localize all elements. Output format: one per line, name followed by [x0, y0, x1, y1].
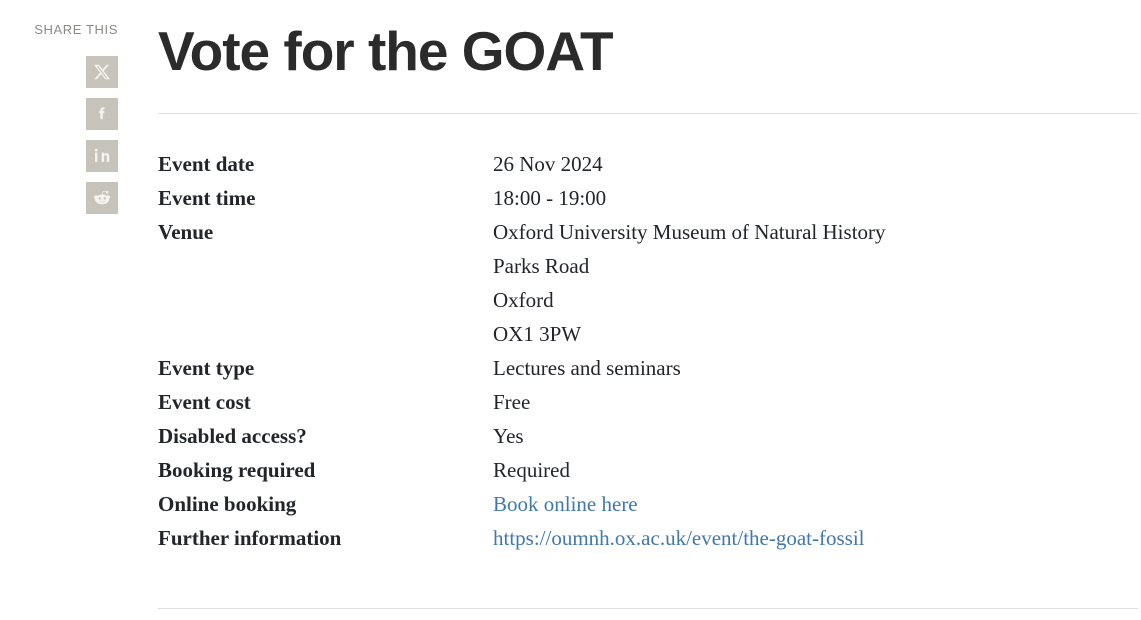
detail-label: Event date — [158, 147, 493, 181]
detail-value: Required — [493, 453, 1138, 487]
detail-value-text: Required — [493, 458, 570, 482]
detail-value: 26 Nov 2024 — [493, 147, 1138, 181]
detail-row: Event date26 Nov 2024 — [158, 147, 1138, 181]
detail-value: 18:00 - 19:00 — [493, 181, 1138, 215]
detail-label: Event time — [158, 181, 493, 215]
detail-label: Further information — [158, 521, 493, 555]
divider-bottom — [158, 608, 1138, 609]
detail-label: Event cost — [158, 385, 493, 419]
linkedin-icon — [93, 147, 111, 165]
detail-label: Disabled access? — [158, 419, 493, 453]
detail-row: Online bookingBook online here — [158, 487, 1138, 521]
event-details-list: Event date26 Nov 2024Event time18:00 - 1… — [158, 147, 1138, 555]
detail-value-text: Free — [493, 390, 530, 414]
reddit-icon — [92, 188, 112, 208]
share-button-facebook[interactable] — [86, 98, 118, 130]
share-icon-list — [86, 56, 118, 214]
detail-label: Event type — [158, 351, 493, 385]
detail-value: Lectures and seminars — [493, 351, 1138, 385]
detail-value-link[interactable]: Book online here — [493, 492, 638, 516]
detail-row: Disabled access?Yes — [158, 419, 1138, 453]
detail-value-extra-line: Parks Road — [493, 249, 1138, 283]
detail-label: Online booking — [158, 487, 493, 521]
detail-value: Oxford University Museum of Natural Hist… — [493, 215, 1138, 351]
detail-value-text: Yes — [493, 424, 524, 448]
share-sidebar: SHARE THIS — [0, 0, 140, 620]
detail-value: Yes — [493, 419, 1138, 453]
detail-row: VenueOxford University Museum of Natural… — [158, 215, 1138, 351]
twitter-x-icon — [93, 63, 111, 81]
share-button-twitter-x[interactable] — [86, 56, 118, 88]
detail-value: Free — [493, 385, 1138, 419]
detail-row: Event time18:00 - 19:00 — [158, 181, 1138, 215]
event-content: Vote for the GOAT Event date26 Nov 2024E… — [158, 0, 1138, 620]
detail-value-text: 26 Nov 2024 — [493, 152, 603, 176]
detail-label: Booking required — [158, 453, 493, 487]
detail-value: https://oumnh.ox.ac.uk/event/the-goat-fo… — [493, 521, 1138, 555]
detail-value-extra-line: Oxford — [493, 283, 1138, 317]
detail-value-link[interactable]: https://oumnh.ox.ac.uk/event/the-goat-fo… — [493, 526, 865, 550]
detail-row: Further informationhttps://oumnh.ox.ac.u… — [158, 521, 1138, 555]
detail-value-text: 18:00 - 19:00 — [493, 186, 606, 210]
detail-row: Booking requiredRequired — [158, 453, 1138, 487]
detail-value-extra-line: OX1 3PW — [493, 317, 1138, 351]
detail-row: Event costFree — [158, 385, 1138, 419]
detail-value-text: Oxford University Museum of Natural Hist… — [493, 220, 886, 244]
detail-row: Event typeLectures and seminars — [158, 351, 1138, 385]
detail-value-text: Lectures and seminars — [493, 356, 681, 380]
share-button-reddit[interactable] — [86, 182, 118, 214]
page-title: Vote for the GOAT — [158, 0, 1138, 83]
facebook-icon — [93, 105, 111, 123]
detail-value: Book online here — [493, 487, 1138, 521]
divider-top — [158, 113, 1138, 114]
share-button-linkedin[interactable] — [86, 140, 118, 172]
detail-label: Venue — [158, 215, 493, 249]
share-this-heading: SHARE THIS — [34, 22, 118, 37]
